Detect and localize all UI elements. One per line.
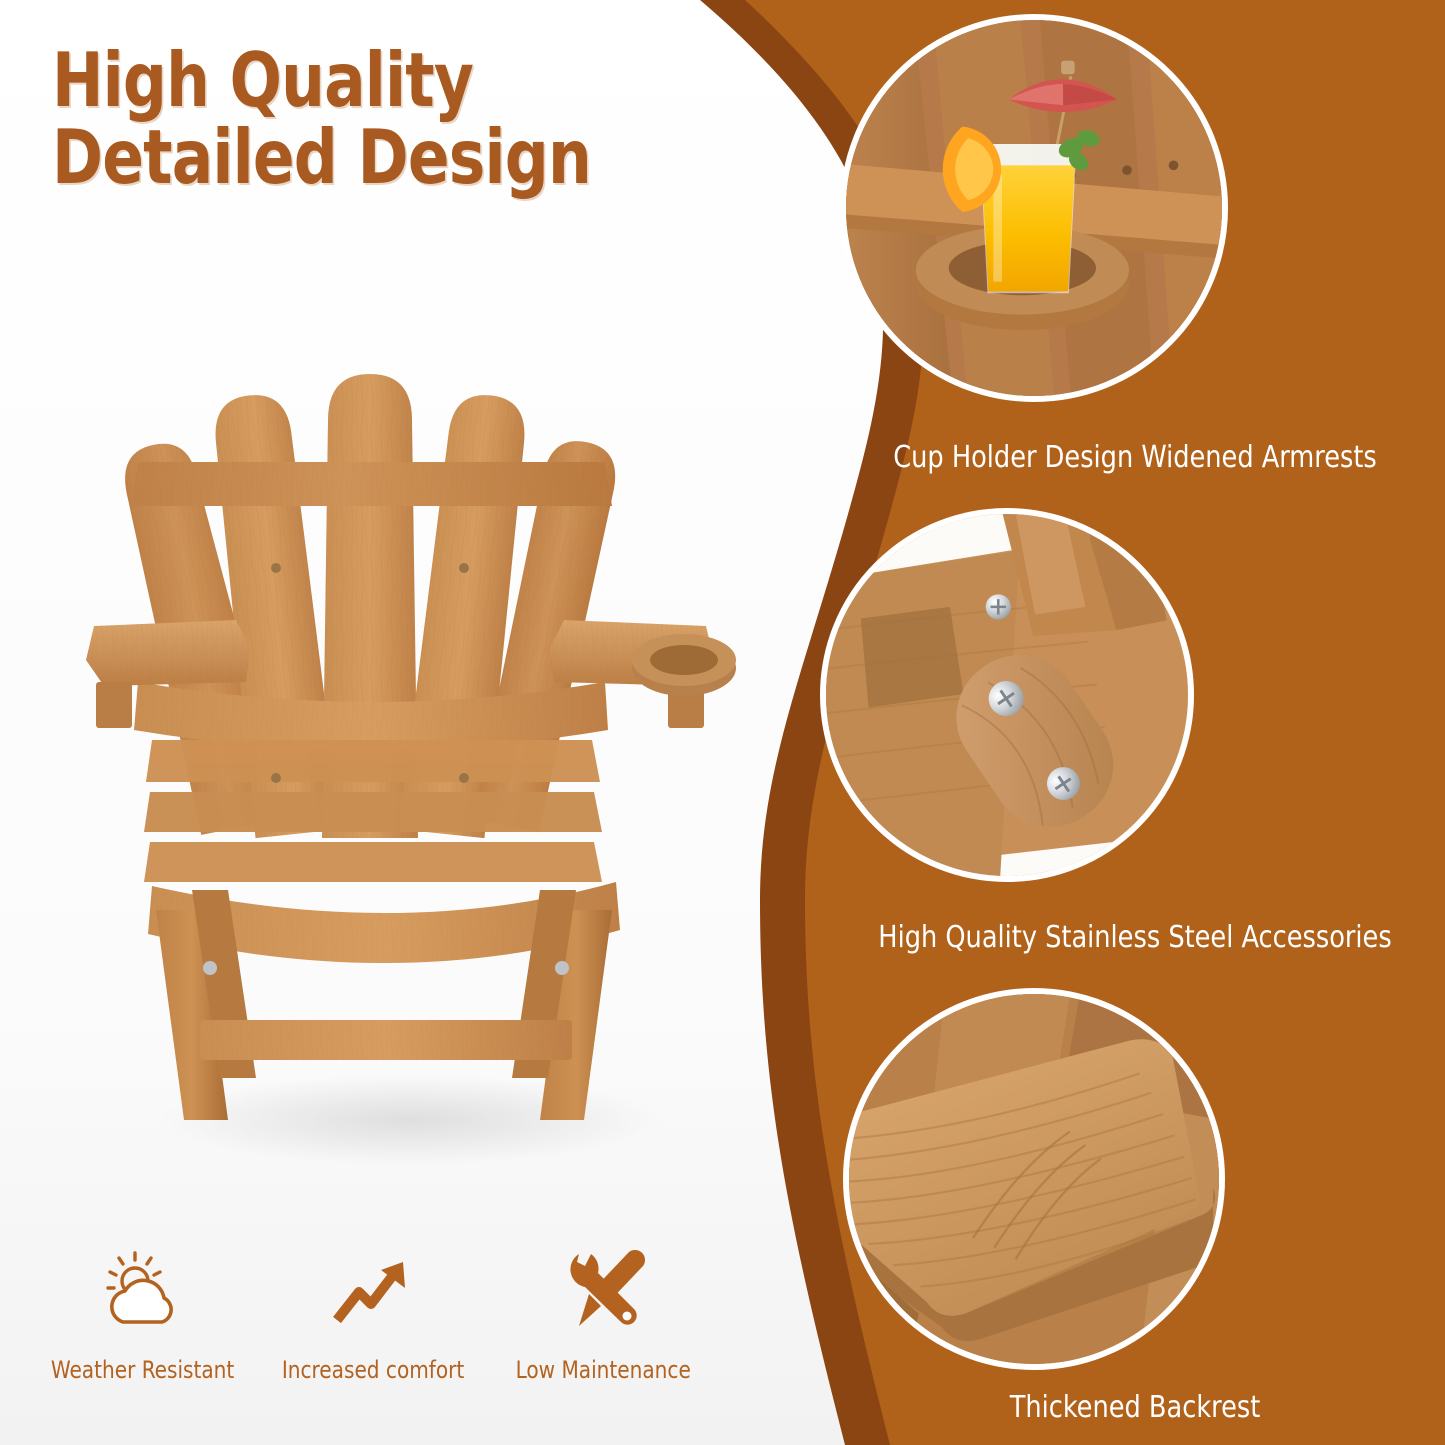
inset-caption: Thickened Backrest [841, 1390, 1430, 1425]
inset-caption: High Quality Stainless Steel Accessories [841, 920, 1430, 955]
title-line-1: High Quality [52, 36, 473, 124]
inset-caption: Cup Holder Design Widened Armrests [841, 440, 1430, 475]
bolt-right [555, 961, 569, 975]
feature-label: Weather Resistant [51, 1356, 234, 1384]
trending-up-arrow-icon [325, 1248, 421, 1340]
wrench-screwdriver-icon [555, 1248, 651, 1340]
page-title: High Quality Detailed Design [52, 42, 593, 195]
feature-list: Weather Resistant Increased comfort [28, 1248, 718, 1413]
product-image [60, 330, 740, 1190]
left-panel: High Quality Detailed Design [0, 0, 760, 1445]
feature-item-weather-resistant: Weather Resistant [28, 1248, 258, 1384]
feature-label: Increased comfort [282, 1356, 464, 1384]
cup-holder [632, 634, 736, 696]
sun-cloud-icon [95, 1248, 191, 1340]
seat-slats [144, 740, 602, 882]
stainless-hardware-photo [820, 508, 1194, 882]
thick-backrest-photo [843, 988, 1225, 1370]
right-panel: Cup Holder Design Widened Armrests [825, 0, 1445, 1445]
cup-holder-photo [840, 14, 1228, 402]
feature-item-low-maintenance: Low Maintenance [488, 1248, 718, 1384]
feature-label: Low Maintenance [515, 1356, 690, 1384]
title-line-2: Detailed Design [52, 119, 593, 196]
bolt-left [203, 961, 217, 975]
feature-item-increased-comfort: Increased comfort [258, 1248, 488, 1384]
